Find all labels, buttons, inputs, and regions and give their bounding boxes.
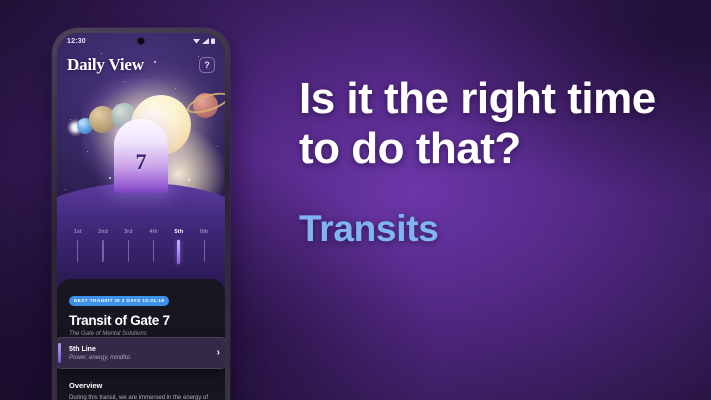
line-label: 4th <box>150 229 158 235</box>
chevron-right-icon[interactable]: › <box>217 348 220 358</box>
camera-notch <box>137 37 145 45</box>
battery-icon <box>211 38 215 44</box>
cellular-signal-icon <box>202 38 209 44</box>
line-tick <box>177 240 180 264</box>
help-button[interactable]: ? <box>199 57 215 73</box>
line-item-1st[interactable]: 1st <box>67 229 89 262</box>
line-tick <box>102 240 104 262</box>
overview-body: During this transit, we are immersed in … <box>69 394 213 400</box>
app-bar: Daily View ? <box>57 51 225 79</box>
ringed-planet-icon <box>185 87 225 121</box>
gate-card[interactable]: 7 <box>114 119 168 193</box>
line-item-5th[interactable]: 5th <box>168 229 190 264</box>
transit-info-sheet: NEXT TRANSIT IN 4 DAYS 10:01:16 Transit … <box>57 279 225 400</box>
line-label: 2nd <box>98 229 108 235</box>
line-tick <box>77 240 79 262</box>
line-tick <box>128 240 130 262</box>
line-label: 1st <box>74 229 82 235</box>
promo-headline: Is it the right time to do that? <box>299 74 689 174</box>
line-detail-description: Power, energy, mindful. <box>69 355 217 361</box>
phone-mockup: 7 12:30 Daily View ? <box>52 28 230 400</box>
accent-bar <box>58 343 61 363</box>
status-icons <box>193 38 215 44</box>
promo-copy: Is it the right time to do that? Transit… <box>299 74 689 250</box>
line-item-3rd[interactable]: 3rd <box>117 229 139 262</box>
line-detail-card[interactable]: 5th Line Power, energy, mindful. › <box>57 337 225 369</box>
status-clock: 12:30 <box>67 38 86 45</box>
line-label: 5th <box>175 229 184 235</box>
line-tick <box>153 240 155 262</box>
gate-number: 7 <box>136 151 147 193</box>
line-tick <box>204 240 206 262</box>
line-label: 3rd <box>124 229 133 235</box>
line-detail-title: 5th Line <box>69 346 217 353</box>
line-item-6th[interactable]: 6th <box>193 229 215 262</box>
line-selector[interactable]: 1st 2nd 3rd 4th 5th 6th <box>57 229 225 275</box>
line-item-4th[interactable]: 4th <box>143 229 165 262</box>
transit-title: Transit of Gate 7 <box>69 313 213 328</box>
wifi-icon <box>193 38 200 44</box>
next-transit-badge: NEXT TRANSIT IN 4 DAYS 10:01:16 <box>69 296 169 306</box>
app-title: Daily View <box>67 55 144 75</box>
line-label: 6th <box>200 229 208 235</box>
overview-section: Overview During this transit, we are imm… <box>69 381 213 400</box>
line-item-2nd[interactable]: 2nd <box>92 229 114 262</box>
promo-subline: Transits <box>299 208 689 250</box>
overview-title: Overview <box>69 381 213 390</box>
line-detail-text: 5th Line Power, energy, mindful. <box>69 346 217 361</box>
phone-screen: 7 12:30 Daily View ? <box>57 33 225 400</box>
